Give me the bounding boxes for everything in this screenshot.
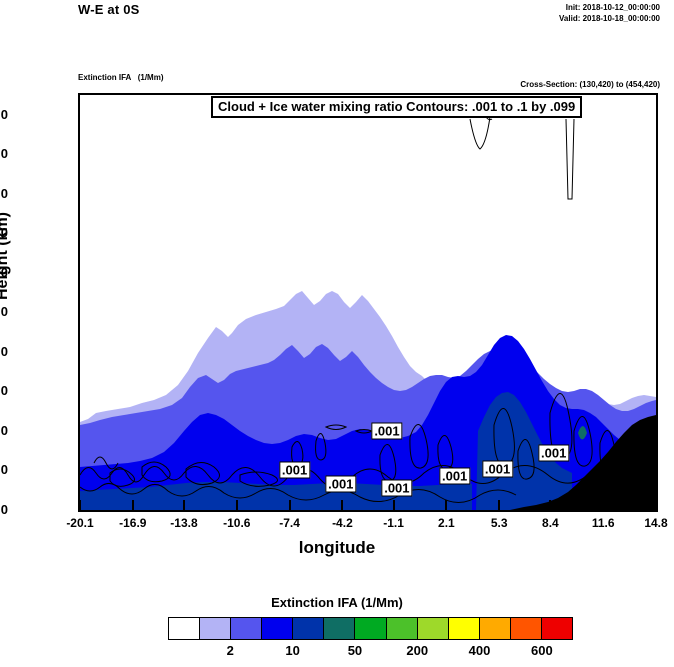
contour-value-label: .001 bbox=[381, 480, 412, 497]
colorbar-swatch[interactable] bbox=[261, 617, 292, 640]
colorbar-swatch[interactable] bbox=[541, 617, 573, 640]
x-tick-label: -20.1 bbox=[50, 516, 110, 530]
colorbar-tick-label: 10 bbox=[263, 643, 323, 658]
x-tick-mark bbox=[236, 500, 238, 510]
colorbar-swatch[interactable] bbox=[417, 617, 448, 640]
x-tick-mark bbox=[549, 500, 551, 510]
x-tick-mark bbox=[445, 500, 447, 510]
x-tick-mark bbox=[655, 500, 657, 510]
cross-section-endpoints: Cross-Section: (130,420) to (454,420) bbox=[520, 80, 660, 89]
contour-value-label: .001 bbox=[279, 462, 310, 479]
colorbar-tick-label: 2 bbox=[200, 643, 260, 658]
x-tick-mark bbox=[132, 500, 134, 510]
contour-value-label: .001 bbox=[439, 468, 470, 485]
colorbar-swatch[interactable] bbox=[292, 617, 323, 640]
y-tick-label: 9.0 bbox=[0, 146, 8, 161]
x-axis-label: longitude bbox=[0, 538, 674, 558]
contour-value-label: .001 bbox=[371, 422, 402, 439]
colorbar-tick-label: 50 bbox=[325, 643, 385, 658]
x-tick-label: 14.8 bbox=[626, 516, 674, 530]
cross-section-plot[interactable]: Cloud + Ice water mixing ratio Contours:… bbox=[78, 93, 658, 512]
y-tick-label: 7.0 bbox=[0, 225, 8, 240]
colorbar-swatch[interactable] bbox=[479, 617, 510, 640]
contour-value-label: .001 bbox=[538, 444, 569, 461]
contour-title-box: Cloud + Ice water mixing ratio Contours:… bbox=[211, 96, 582, 118]
contour-value-label: .001 bbox=[482, 460, 513, 477]
run-time-block: Init: 2018-10-12_00:00:00 Valid: 2018-10… bbox=[559, 2, 660, 24]
x-tick-mark bbox=[183, 500, 185, 510]
x-tick-label: 2.1 bbox=[416, 516, 476, 530]
x-tick-label: -1.1 bbox=[364, 516, 424, 530]
y-tick-label: 6.0 bbox=[0, 265, 8, 280]
colorbar-tick-label: 400 bbox=[450, 643, 510, 658]
x-tick-mark bbox=[498, 500, 500, 510]
y-tick-label: 1.0 bbox=[0, 462, 8, 477]
y-tick-label: 8.0 bbox=[0, 186, 8, 201]
filled-contour-canvas bbox=[80, 95, 656, 510]
colorbar[interactable] bbox=[168, 617, 573, 640]
field-line-extinction: Extinction IFA (1/Mm) bbox=[78, 72, 220, 83]
x-tick-mark bbox=[602, 500, 604, 510]
colorbar-tick-label: 200 bbox=[387, 643, 447, 658]
colorbar-swatch[interactable] bbox=[386, 617, 417, 640]
x-tick-label: -10.6 bbox=[207, 516, 267, 530]
y-tick-label: 10.0 bbox=[0, 107, 8, 122]
colorbar-tick-label: 600 bbox=[512, 643, 572, 658]
colorbar-title: Extinction IFA (1/Mm) bbox=[0, 595, 674, 610]
page-title: W-E at 0S bbox=[78, 2, 140, 17]
colorbar-swatch[interactable] bbox=[510, 617, 541, 640]
x-tick-label: 11.6 bbox=[573, 516, 633, 530]
x-tick-mark bbox=[79, 500, 81, 510]
y-tick-label: 4.0 bbox=[0, 344, 8, 359]
x-tick-label: -13.8 bbox=[154, 516, 214, 530]
x-tick-mark bbox=[341, 500, 343, 510]
colorbar-swatch[interactable] bbox=[168, 617, 199, 640]
colorbar-swatch[interactable] bbox=[199, 617, 230, 640]
colorbar-swatch[interactable] bbox=[230, 617, 261, 640]
y-tick-label: 3.0 bbox=[0, 383, 8, 398]
x-tick-label: 8.4 bbox=[520, 516, 580, 530]
colorbar-swatch[interactable] bbox=[354, 617, 385, 640]
y-tick-label: 5.0 bbox=[0, 304, 8, 319]
contour-value-label: .001 bbox=[325, 476, 356, 493]
valid-time: Valid: 2018-10-18_00:00:00 bbox=[559, 13, 660, 24]
y-tick-label: 2.0 bbox=[0, 423, 8, 438]
y-tick-label: 0.0 bbox=[0, 502, 8, 517]
init-time: Init: 2018-10-12_00:00:00 bbox=[559, 2, 660, 13]
x-tick-mark bbox=[393, 500, 395, 510]
x-tick-mark bbox=[289, 500, 291, 510]
colorbar-swatch[interactable] bbox=[323, 617, 354, 640]
colorbar-swatch[interactable] bbox=[448, 617, 479, 640]
x-tick-label: -7.4 bbox=[260, 516, 320, 530]
